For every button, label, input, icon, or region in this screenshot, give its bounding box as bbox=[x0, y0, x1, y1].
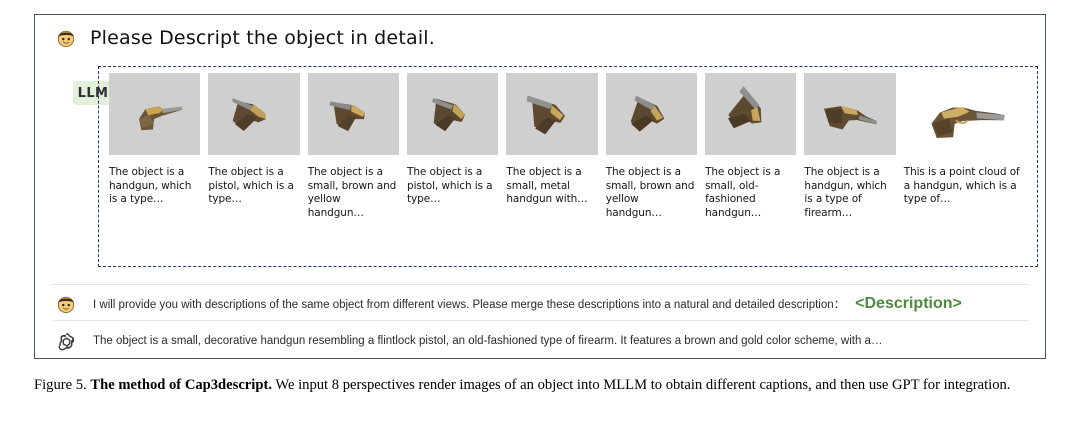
pistol-render-view-4 bbox=[407, 73, 498, 155]
view-column: This is a point cloud of a handgun, whic… bbox=[900, 73, 1031, 266]
view-column: The object is a small, old-fashioned han… bbox=[701, 73, 800, 266]
view-caption: The object is a pistol, which is a type… bbox=[208, 166, 299, 207]
pistol-render-view-8 bbox=[804, 73, 895, 155]
merge-instruction-row: I will provide you with descriptions of … bbox=[55, 289, 1035, 319]
merge-instruction-text: I will provide you with descriptions of … bbox=[93, 296, 845, 312]
user-prompt-row: Please Descript the object in detail. bbox=[35, 15, 1045, 61]
pistol-render-view-5 bbox=[506, 73, 597, 155]
view-caption: The object is a small, brown and yellow … bbox=[308, 166, 399, 220]
figure-frame: Please Descript the object in detail. LL… bbox=[34, 14, 1046, 359]
figure-caption: Figure 5. The method of Cap3descript. We… bbox=[34, 375, 1048, 396]
description-placeholder-tag: <Description> bbox=[855, 295, 962, 313]
view-column: The object is a pistol, which is a type… bbox=[403, 73, 502, 266]
view-column: The object is a handgun, which is a type… bbox=[800, 73, 899, 266]
person-avatar-icon bbox=[55, 293, 77, 315]
view-caption: The object is a small, metal handgun wit… bbox=[506, 166, 597, 207]
view-caption: The object is a handgun, which is a type… bbox=[109, 166, 200, 207]
view-column: The object is a pistol, which is a type… bbox=[204, 73, 303, 266]
pistol-render-view-6 bbox=[606, 73, 697, 155]
figure-label: Figure 5. bbox=[34, 377, 87, 393]
pistol-render-view-7 bbox=[705, 73, 796, 155]
view-caption: The object is a small, old-fashioned han… bbox=[705, 166, 796, 220]
row-separator bbox=[53, 284, 1028, 285]
view-caption: The object is a handgun, which is a type… bbox=[804, 166, 895, 220]
person-avatar-icon bbox=[55, 27, 77, 49]
figure-title: The method of Cap3descript. bbox=[90, 377, 272, 393]
prompt-text: Please Descript the object in detail. bbox=[90, 27, 435, 49]
view-caption: The object is a small, brown and yellow … bbox=[606, 166, 697, 220]
gpt-answer-text: The object is a small, decorative handgu… bbox=[93, 335, 882, 347]
view-caption: This is a point cloud of a handgun, whic… bbox=[904, 166, 1027, 207]
view-column: The object is a small, brown and yellow … bbox=[304, 73, 403, 266]
openai-logo-icon bbox=[55, 330, 77, 352]
render-views-gallery: The object is a handgun, which is a type… bbox=[98, 66, 1038, 267]
view-column: The object is a handgun, which is a type… bbox=[105, 73, 204, 266]
view-caption: The object is a pistol, which is a type… bbox=[407, 166, 498, 207]
pistol-render-view-3 bbox=[308, 73, 399, 155]
view-column: The object is a small, brown and yellow … bbox=[602, 73, 701, 266]
figure-body: We input 8 perspectives render images of… bbox=[275, 377, 1010, 393]
row-separator bbox=[53, 320, 1028, 321]
gpt-answer-row: The object is a small, decorative handgu… bbox=[55, 325, 1035, 357]
view-column: The object is a small, metal handgun wit… bbox=[502, 73, 601, 266]
pistol-point-cloud-view bbox=[904, 73, 1027, 155]
pistol-render-view-1 bbox=[109, 73, 200, 155]
pistol-render-view-2 bbox=[208, 73, 299, 155]
